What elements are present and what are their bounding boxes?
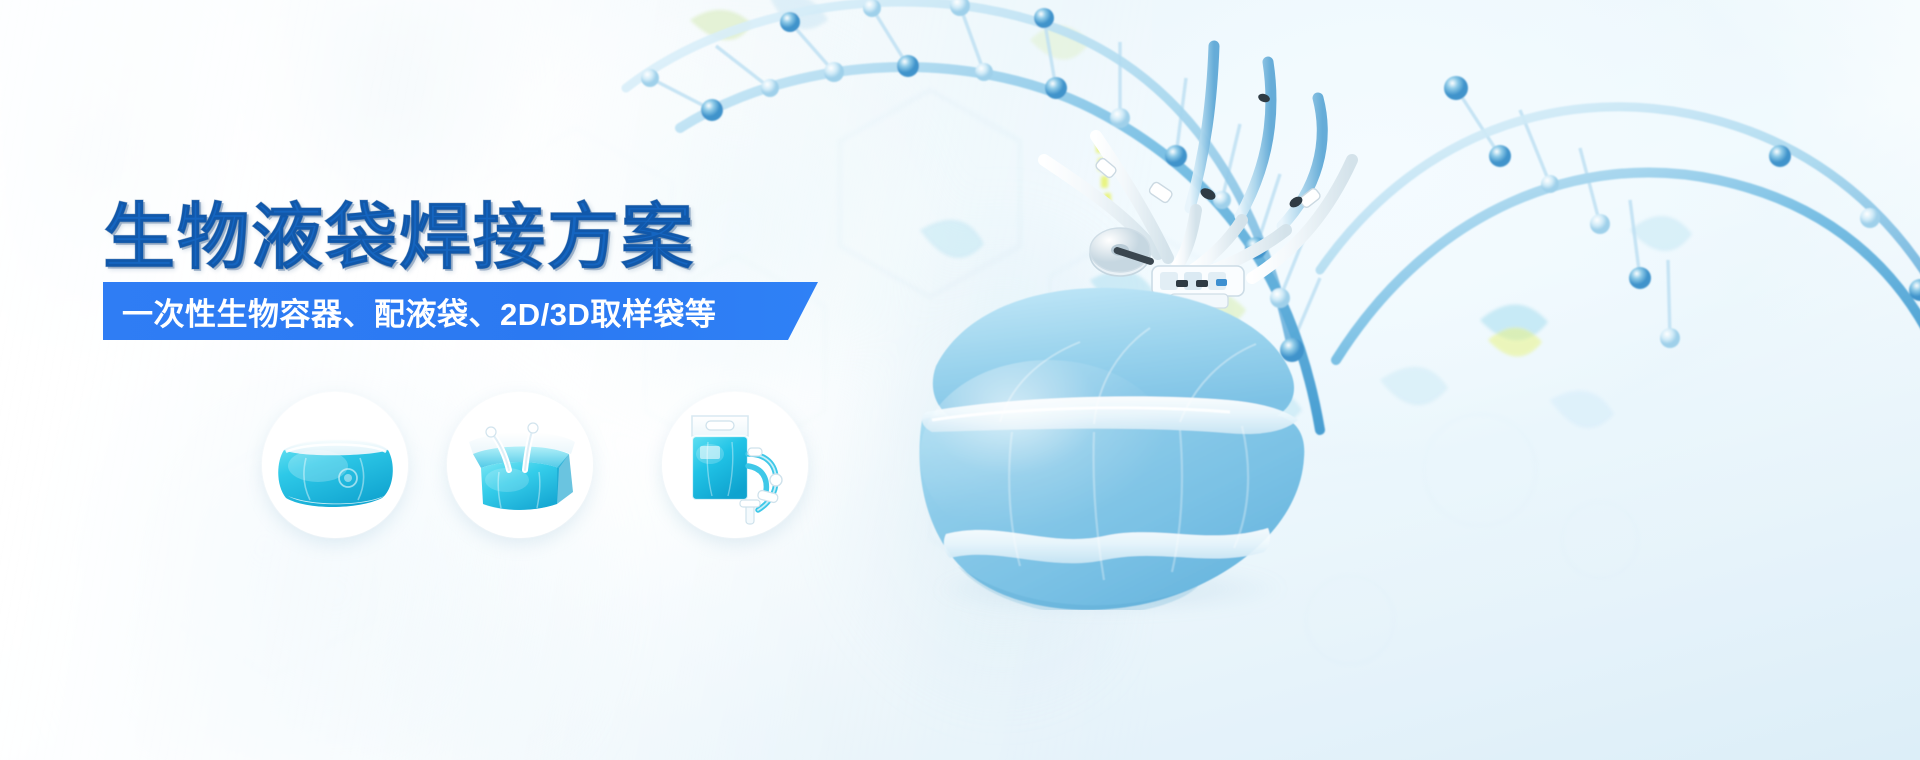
product-banner: 生物液袋焊接方案 一次性生物容器、配液袋、2D/3D取样袋等: [0, 0, 1920, 760]
sampling-bag-tubing-icon: [662, 392, 808, 538]
subtitle-ribbon: 一次性生物容器、配液袋、2D/3D取样袋等: [103, 282, 818, 340]
page-title: 生物液袋焊接方案: [103, 178, 695, 283]
subtitle-text: 一次性生物容器、配液袋、2D/3D取样袋等: [103, 282, 818, 340]
liquid-bag-pillow-icon: [262, 392, 408, 538]
large-bioprocess-bag: [880, 280, 1340, 610]
thumbnail-liquid-bag-pillow[interactable]: [262, 392, 408, 538]
liquid-bag-cube-icon: [447, 392, 593, 538]
thumbnail-liquid-bag-cube[interactable]: [447, 392, 593, 538]
thumbnail-sampling-bag-tubing[interactable]: [662, 392, 808, 538]
